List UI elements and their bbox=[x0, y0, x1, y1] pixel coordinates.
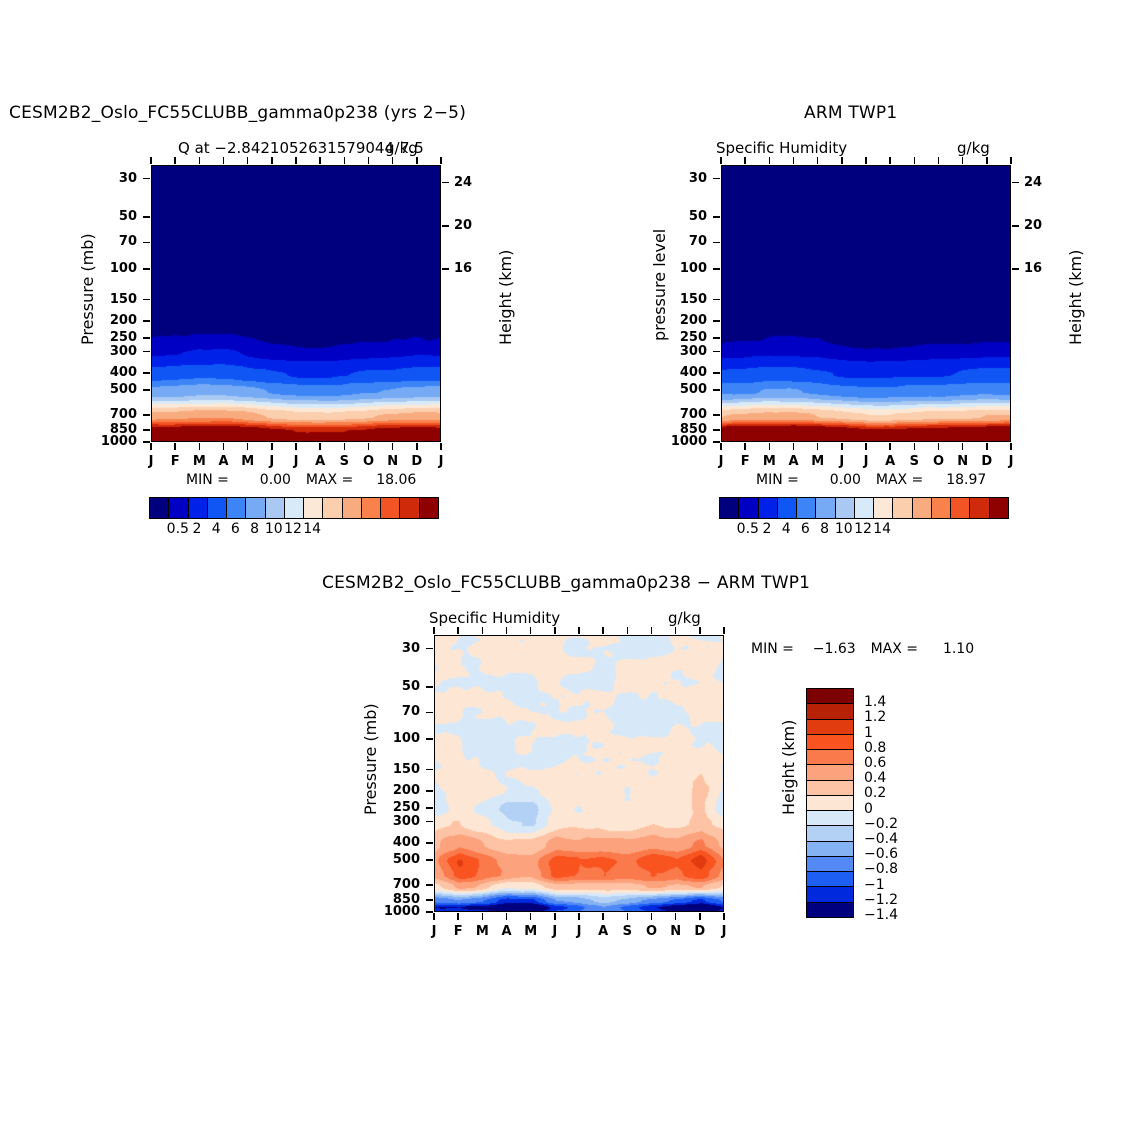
month-tick-label: J bbox=[577, 924, 582, 939]
month-tick-bottom bbox=[530, 913, 532, 920]
month-tick-top bbox=[841, 157, 843, 164]
colorbar-tick-label: −1.4 bbox=[864, 907, 898, 923]
month-tick-top bbox=[938, 157, 940, 164]
panel-difference-title: CESM2B2_Oslo_FC55CLUBB_gamma0p238 − ARM … bbox=[322, 573, 810, 593]
month-tick-bottom bbox=[433, 913, 435, 920]
colorbar-swatch[interactable] bbox=[189, 498, 208, 518]
month-tick-label: J bbox=[722, 924, 727, 939]
colorbar-swatch[interactable] bbox=[720, 498, 739, 518]
month-tick-bottom bbox=[392, 443, 394, 450]
colorbar-swatch[interactable] bbox=[323, 498, 342, 518]
pressure-tick bbox=[713, 441, 720, 443]
colorbar-swatch[interactable] bbox=[807, 826, 853, 841]
colorbar-swatch[interactable] bbox=[816, 498, 835, 518]
month-tick-label: N bbox=[387, 454, 398, 469]
month-tick-label: J bbox=[439, 454, 444, 469]
min-label: MIN = bbox=[186, 472, 229, 488]
month-tick-bottom bbox=[841, 443, 843, 450]
month-tick-top bbox=[174, 157, 176, 164]
colorbar-tick-label: 2 bbox=[763, 521, 772, 537]
colorbar-swatch[interactable] bbox=[759, 498, 778, 518]
height-tick bbox=[1012, 268, 1019, 270]
pressure-tick bbox=[713, 299, 720, 301]
pressure-tick-label: 150 bbox=[110, 292, 137, 307]
height-tick-label: 16 bbox=[454, 261, 472, 276]
max-label: MAX = bbox=[871, 641, 918, 657]
colorbar-tick-label: 12 bbox=[854, 521, 872, 537]
colorbar-tick-label: 8 bbox=[250, 521, 259, 537]
month-tick-bottom bbox=[793, 443, 795, 450]
pressure-tick bbox=[143, 320, 150, 322]
month-tick-bottom bbox=[295, 443, 297, 450]
month-tick-top bbox=[627, 627, 629, 634]
pressure-tick bbox=[426, 821, 433, 823]
colorbar-swatch[interactable] bbox=[807, 765, 853, 780]
month-tick-label: N bbox=[957, 454, 968, 469]
month-tick-label: S bbox=[340, 454, 349, 469]
panel-obs-y2-axis-title: Height (km) bbox=[1066, 250, 1085, 345]
pressure-tick bbox=[713, 178, 720, 180]
pressure-tick bbox=[426, 686, 433, 688]
month-tick-label: J bbox=[1009, 454, 1014, 469]
pressure-tick-label: 300 bbox=[393, 814, 420, 829]
month-tick-bottom bbox=[889, 443, 891, 450]
month-tick-label: J bbox=[719, 454, 724, 469]
panel-model-plot bbox=[151, 165, 441, 442]
month-tick-bottom bbox=[1010, 443, 1012, 450]
pressure-tick bbox=[426, 769, 433, 771]
height-tick-label: 24 bbox=[454, 175, 472, 190]
colorbar-swatch[interactable] bbox=[807, 689, 853, 704]
colorbar-tick-label: 14 bbox=[303, 521, 321, 537]
colorbar-tick-label: 12 bbox=[284, 521, 302, 537]
height-tick-label: 20 bbox=[1024, 218, 1042, 233]
month-tick-bottom bbox=[865, 443, 867, 450]
month-tick-bottom bbox=[675, 913, 677, 920]
pressure-tick bbox=[143, 268, 150, 270]
month-tick-label: O bbox=[646, 924, 657, 939]
month-tick-bottom bbox=[744, 443, 746, 450]
colorbar-swatch[interactable] bbox=[285, 498, 304, 518]
month-tick-label: S bbox=[910, 454, 919, 469]
month-tick-bottom bbox=[416, 443, 418, 450]
colorbar-swatch[interactable] bbox=[150, 498, 169, 518]
month-tick-top bbox=[675, 627, 677, 634]
colorbar-tick-label: 8 bbox=[820, 521, 829, 537]
panel-difference-y-axis-title: Pressure (mb) bbox=[361, 703, 380, 815]
height-tick-label: 20 bbox=[454, 218, 472, 233]
panel-model-title: CESM2B2_Oslo_FC55CLUBB_gamma0p238 (yrs 2… bbox=[9, 103, 466, 123]
pressure-tick bbox=[143, 242, 150, 244]
colorbar-swatch[interactable] bbox=[893, 498, 912, 518]
panel-model-minmax: MIN = 0.00 MAX = 18.06 bbox=[186, 472, 416, 488]
pressure-tick bbox=[426, 842, 433, 844]
pressure-tick-label: 700 bbox=[680, 407, 707, 422]
colorbar-swatch[interactable] bbox=[807, 857, 853, 872]
month-tick-top bbox=[699, 627, 701, 634]
month-tick-top bbox=[247, 157, 249, 164]
month-tick-bottom bbox=[699, 913, 701, 920]
month-tick-bottom bbox=[962, 443, 964, 450]
colorbar-swatch[interactable] bbox=[807, 887, 853, 902]
colorbar-tick-label: 0 bbox=[864, 801, 873, 817]
pressure-tick-label: 500 bbox=[110, 382, 137, 397]
month-tick-bottom bbox=[627, 913, 629, 920]
colorbar-swatch[interactable] bbox=[807, 842, 853, 857]
month-tick-top bbox=[554, 627, 556, 634]
height-tick bbox=[1012, 182, 1019, 184]
pressure-tick-label: 50 bbox=[689, 209, 707, 224]
height-tick bbox=[1012, 225, 1019, 227]
colorbar-swatch[interactable] bbox=[807, 750, 853, 765]
month-tick-label: M bbox=[524, 924, 537, 939]
pressure-tick bbox=[426, 648, 433, 650]
month-tick-label: A bbox=[218, 454, 228, 469]
pressure-tick bbox=[426, 807, 433, 809]
colorbar-swatch[interactable] bbox=[951, 498, 970, 518]
max-label: MAX = bbox=[306, 472, 353, 488]
month-tick-label: O bbox=[933, 454, 944, 469]
panel-model-subtitle-left: Q at −2.8421052631579044 bbox=[178, 139, 394, 157]
month-tick-bottom bbox=[506, 913, 508, 920]
pressure-tick-label: 150 bbox=[680, 292, 707, 307]
pressure-tick-label: 70 bbox=[402, 704, 420, 719]
pressure-tick-label: 500 bbox=[680, 382, 707, 397]
colorbar-swatch[interactable] bbox=[208, 498, 227, 518]
max-value: 18.97 bbox=[946, 472, 986, 488]
month-tick-label: F bbox=[454, 924, 463, 939]
pressure-tick-label: 700 bbox=[393, 877, 420, 892]
month-tick-bottom bbox=[720, 443, 722, 450]
pressure-tick bbox=[143, 178, 150, 180]
colorbar-swatch[interactable] bbox=[807, 704, 853, 719]
colorbar-tick-label: 1 bbox=[864, 725, 873, 741]
month-tick-bottom bbox=[554, 913, 556, 920]
pressure-tick-label: 100 bbox=[110, 261, 137, 276]
pressure-tick bbox=[143, 414, 150, 416]
month-tick-bottom bbox=[482, 913, 484, 920]
month-tick-bottom bbox=[602, 913, 604, 920]
month-tick-top bbox=[1010, 157, 1012, 164]
month-tick-label: A bbox=[598, 924, 608, 939]
min-value: 0.00 bbox=[260, 472, 291, 488]
pressure-tick-label: 700 bbox=[110, 407, 137, 422]
pressure-tick bbox=[426, 899, 433, 901]
month-tick-bottom bbox=[247, 443, 249, 450]
month-tick-top bbox=[416, 157, 418, 164]
colorbar-tick-label: 0.5 bbox=[737, 521, 759, 537]
month-tick-bottom bbox=[344, 443, 346, 450]
colorbar-tick-label: 10 bbox=[835, 521, 853, 537]
height-tick-label: 24 bbox=[1024, 175, 1042, 190]
max-value: 18.06 bbox=[376, 472, 416, 488]
panel-obs-subtitle-units: g/kg bbox=[957, 139, 990, 157]
colorbar-swatch[interactable] bbox=[836, 498, 855, 518]
month-tick-top bbox=[889, 157, 891, 164]
pressure-tick bbox=[713, 389, 720, 391]
pressure-tick-label: 70 bbox=[689, 234, 707, 249]
height-tick bbox=[442, 225, 449, 227]
pressure-tick bbox=[713, 337, 720, 339]
colorbar-swatch[interactable] bbox=[400, 498, 419, 518]
panel-obs-colorbar[interactable] bbox=[719, 497, 1009, 519]
panel-obs-y-axis-title: pressure level bbox=[650, 229, 669, 341]
panel-obs-minmax: MIN = 0.00 MAX = 18.97 bbox=[756, 472, 986, 488]
colorbar-swatch[interactable] bbox=[169, 498, 188, 518]
pressure-tick-label: 400 bbox=[393, 835, 420, 850]
pressure-tick-label: 30 bbox=[119, 171, 137, 186]
month-tick-label: A bbox=[501, 924, 511, 939]
month-tick-top bbox=[865, 157, 867, 164]
min-value: 0.00 bbox=[830, 472, 861, 488]
pressure-tick-label: 30 bbox=[689, 171, 707, 186]
month-tick-label: J bbox=[149, 454, 154, 469]
month-tick-bottom bbox=[578, 913, 580, 920]
pressure-tick bbox=[426, 738, 433, 740]
month-tick-bottom bbox=[938, 443, 940, 450]
month-tick-top bbox=[433, 627, 435, 634]
month-tick-label: O bbox=[363, 454, 374, 469]
month-tick-bottom bbox=[271, 443, 273, 450]
colorbar-swatch[interactable] bbox=[807, 781, 853, 796]
pressure-tick-label: 300 bbox=[680, 344, 707, 359]
colorbar-tick-label: 14 bbox=[873, 521, 891, 537]
height-tick bbox=[442, 182, 449, 184]
colorbar-swatch[interactable] bbox=[797, 498, 816, 518]
min-label: MIN = bbox=[751, 641, 794, 657]
pressure-tick bbox=[426, 884, 433, 886]
pressure-tick bbox=[713, 268, 720, 270]
colorbar-swatch[interactable] bbox=[807, 796, 853, 811]
colorbar-tick-label: −1 bbox=[864, 877, 885, 893]
month-tick-label: J bbox=[269, 454, 274, 469]
pressure-tick bbox=[143, 351, 150, 353]
colorbar-tick-label: 1.2 bbox=[864, 709, 886, 725]
colorbar-swatch[interactable] bbox=[343, 498, 362, 518]
pressure-tick bbox=[426, 790, 433, 792]
month-tick-bottom bbox=[368, 443, 370, 450]
month-tick-bottom bbox=[914, 443, 916, 450]
panel-obs-subtitle-left: Specific Humidity bbox=[716, 139, 847, 157]
panel-model-colorbar[interactable] bbox=[149, 497, 439, 519]
pressure-tick-label: 150 bbox=[393, 762, 420, 777]
colorbar-swatch[interactable] bbox=[807, 720, 853, 735]
colorbar-swatch[interactable] bbox=[855, 498, 874, 518]
month-tick-label: M bbox=[193, 454, 206, 469]
colorbar-swatch[interactable] bbox=[913, 498, 932, 518]
month-tick-top bbox=[392, 157, 394, 164]
pressure-tick-label: 100 bbox=[680, 261, 707, 276]
month-tick-label: M bbox=[763, 454, 776, 469]
panel-difference-minmax: MIN = −1.63 MAX = 1.10 bbox=[751, 641, 974, 657]
pressure-tick bbox=[143, 299, 150, 301]
colorbar-swatch[interactable] bbox=[420, 498, 438, 518]
colorbar-tick-label: 4 bbox=[212, 521, 221, 537]
pressure-tick-label: 50 bbox=[119, 209, 137, 224]
month-tick-top bbox=[482, 627, 484, 634]
colorbar-tick-label: 10 bbox=[265, 521, 283, 537]
month-tick-bottom bbox=[817, 443, 819, 450]
colorbar-swatch[interactable] bbox=[266, 498, 285, 518]
colorbar-swatch[interactable] bbox=[778, 498, 797, 518]
month-tick-label: M bbox=[241, 454, 254, 469]
month-tick-top bbox=[223, 157, 225, 164]
month-tick-label: N bbox=[670, 924, 681, 939]
month-tick-label: A bbox=[885, 454, 895, 469]
month-tick-label: J bbox=[864, 454, 869, 469]
panel-difference-subtitle-left: Specific Humidity bbox=[429, 609, 560, 627]
month-tick-bottom bbox=[651, 913, 653, 920]
month-tick-label: F bbox=[171, 454, 180, 469]
month-tick-top bbox=[769, 157, 771, 164]
colorbar-swatch[interactable] bbox=[739, 498, 758, 518]
month-tick-bottom bbox=[986, 443, 988, 450]
colorbar-swatch[interactable] bbox=[932, 498, 951, 518]
month-tick-label: J bbox=[839, 454, 844, 469]
month-tick-bottom bbox=[723, 913, 725, 920]
pressure-tick bbox=[143, 372, 150, 374]
colorbar-tick-label: 6 bbox=[231, 521, 240, 537]
pressure-tick-label: 1000 bbox=[384, 904, 420, 919]
panel-difference-colorbar[interactable] bbox=[806, 688, 854, 918]
colorbar-tick-label: 6 bbox=[801, 521, 810, 537]
pressure-tick bbox=[713, 429, 720, 431]
colorbar-swatch[interactable] bbox=[381, 498, 400, 518]
pressure-tick-label: 1000 bbox=[101, 434, 137, 449]
colorbar-tick-label: −1.2 bbox=[864, 892, 898, 908]
month-tick-top bbox=[440, 157, 442, 164]
pressure-tick-label: 50 bbox=[402, 679, 420, 694]
month-tick-top bbox=[150, 157, 152, 164]
month-tick-label: J bbox=[432, 924, 437, 939]
month-tick-top bbox=[793, 157, 795, 164]
pressure-tick-label: 200 bbox=[393, 783, 420, 798]
pressure-tick bbox=[143, 216, 150, 218]
pressure-tick bbox=[143, 429, 150, 431]
panel-obs-plot bbox=[721, 165, 1011, 442]
month-tick-label: A bbox=[788, 454, 798, 469]
month-tick-label: D bbox=[981, 454, 992, 469]
month-tick-label: A bbox=[315, 454, 325, 469]
pressure-tick-label: 400 bbox=[680, 365, 707, 380]
month-tick-top bbox=[651, 627, 653, 634]
height-tick bbox=[442, 268, 449, 270]
colorbar-swatch[interactable] bbox=[807, 811, 853, 826]
month-tick-top bbox=[295, 157, 297, 164]
month-tick-top bbox=[817, 157, 819, 164]
colorbar-swatch[interactable] bbox=[807, 872, 853, 887]
panel-difference-y2-axis-title: Height (km) bbox=[779, 720, 798, 815]
colorbar-swatch[interactable] bbox=[304, 498, 323, 518]
colorbar-swatch[interactable] bbox=[970, 498, 989, 518]
month-tick-top bbox=[578, 627, 580, 634]
pressure-tick-label: 200 bbox=[680, 313, 707, 328]
panel-model-y2-axis-title: Height (km) bbox=[496, 250, 515, 345]
month-tick-top bbox=[723, 627, 725, 634]
month-tick-top bbox=[506, 627, 508, 634]
pressure-tick bbox=[143, 441, 150, 443]
colorbar-swatch[interactable] bbox=[874, 498, 893, 518]
min-value: −1.63 bbox=[813, 641, 856, 657]
month-tick-top bbox=[530, 627, 532, 634]
pressure-tick bbox=[426, 859, 433, 861]
pressure-tick bbox=[143, 337, 150, 339]
colorbar-tick-label: −0.8 bbox=[864, 861, 898, 877]
month-tick-top bbox=[720, 157, 722, 164]
colorbar-swatch[interactable] bbox=[807, 903, 853, 917]
colorbar-tick-label: 0.6 bbox=[864, 755, 886, 771]
panel-obs-title: ARM TWP1 bbox=[804, 103, 897, 123]
month-tick-top bbox=[744, 157, 746, 164]
min-label: MIN = bbox=[756, 472, 799, 488]
colorbar-swatch[interactable] bbox=[362, 498, 381, 518]
month-tick-label: J bbox=[294, 454, 299, 469]
month-tick-label: D bbox=[411, 454, 422, 469]
pressure-tick-label: 70 bbox=[119, 234, 137, 249]
month-tick-bottom bbox=[440, 443, 442, 450]
max-value: 1.10 bbox=[943, 641, 974, 657]
month-tick-bottom bbox=[769, 443, 771, 450]
colorbar-tick-label: 0.8 bbox=[864, 740, 886, 756]
pressure-tick bbox=[143, 389, 150, 391]
colorbar-tick-label: 2 bbox=[193, 521, 202, 537]
colorbar-tick-label: 0.4 bbox=[864, 770, 886, 786]
colorbar-tick-label: 0.2 bbox=[864, 785, 886, 801]
colorbar-tick-label: −0.6 bbox=[864, 846, 898, 862]
pressure-tick-label: 400 bbox=[110, 365, 137, 380]
colorbar-swatch[interactable] bbox=[807, 735, 853, 750]
month-tick-label: D bbox=[694, 924, 705, 939]
month-tick-top bbox=[986, 157, 988, 164]
month-tick-top bbox=[199, 157, 201, 164]
colorbar-tick-label: 0.5 bbox=[167, 521, 189, 537]
height-tick-label: 16 bbox=[1024, 261, 1042, 276]
pressure-tick bbox=[426, 911, 433, 913]
panel-model-y-axis-title: Pressure (mb) bbox=[78, 233, 97, 345]
pressure-tick-label: 1000 bbox=[671, 434, 707, 449]
colorbar-swatch[interactable] bbox=[227, 498, 246, 518]
pressure-tick bbox=[713, 414, 720, 416]
pressure-tick bbox=[713, 351, 720, 353]
month-tick-label: J bbox=[552, 924, 557, 939]
month-tick-top bbox=[271, 157, 273, 164]
colorbar-swatch[interactable] bbox=[246, 498, 265, 518]
month-tick-label: S bbox=[623, 924, 632, 939]
panel-difference-subtitle-units: g/kg bbox=[668, 609, 701, 627]
colorbar-tick-label: 4 bbox=[782, 521, 791, 537]
month-tick-bottom bbox=[150, 443, 152, 450]
pressure-tick bbox=[713, 216, 720, 218]
month-tick-top bbox=[344, 157, 346, 164]
month-tick-label: F bbox=[741, 454, 750, 469]
max-label: MAX = bbox=[876, 472, 923, 488]
pressure-tick bbox=[713, 320, 720, 322]
panel-difference-plot bbox=[434, 635, 724, 912]
pressure-tick-label: 500 bbox=[393, 852, 420, 867]
month-tick-label: M bbox=[476, 924, 489, 939]
pressure-tick-label: 30 bbox=[402, 641, 420, 656]
colorbar-swatch[interactable] bbox=[990, 498, 1008, 518]
pressure-tick-label: 100 bbox=[393, 731, 420, 746]
panel-model-subtitle-units: g/kg bbox=[385, 139, 418, 157]
pressure-tick bbox=[426, 712, 433, 714]
month-tick-bottom bbox=[319, 443, 321, 450]
colorbar-tick-label: 1.4 bbox=[864, 694, 886, 710]
month-tick-bottom bbox=[199, 443, 201, 450]
month-tick-top bbox=[962, 157, 964, 164]
pressure-tick bbox=[713, 372, 720, 374]
month-tick-bottom bbox=[457, 913, 459, 920]
